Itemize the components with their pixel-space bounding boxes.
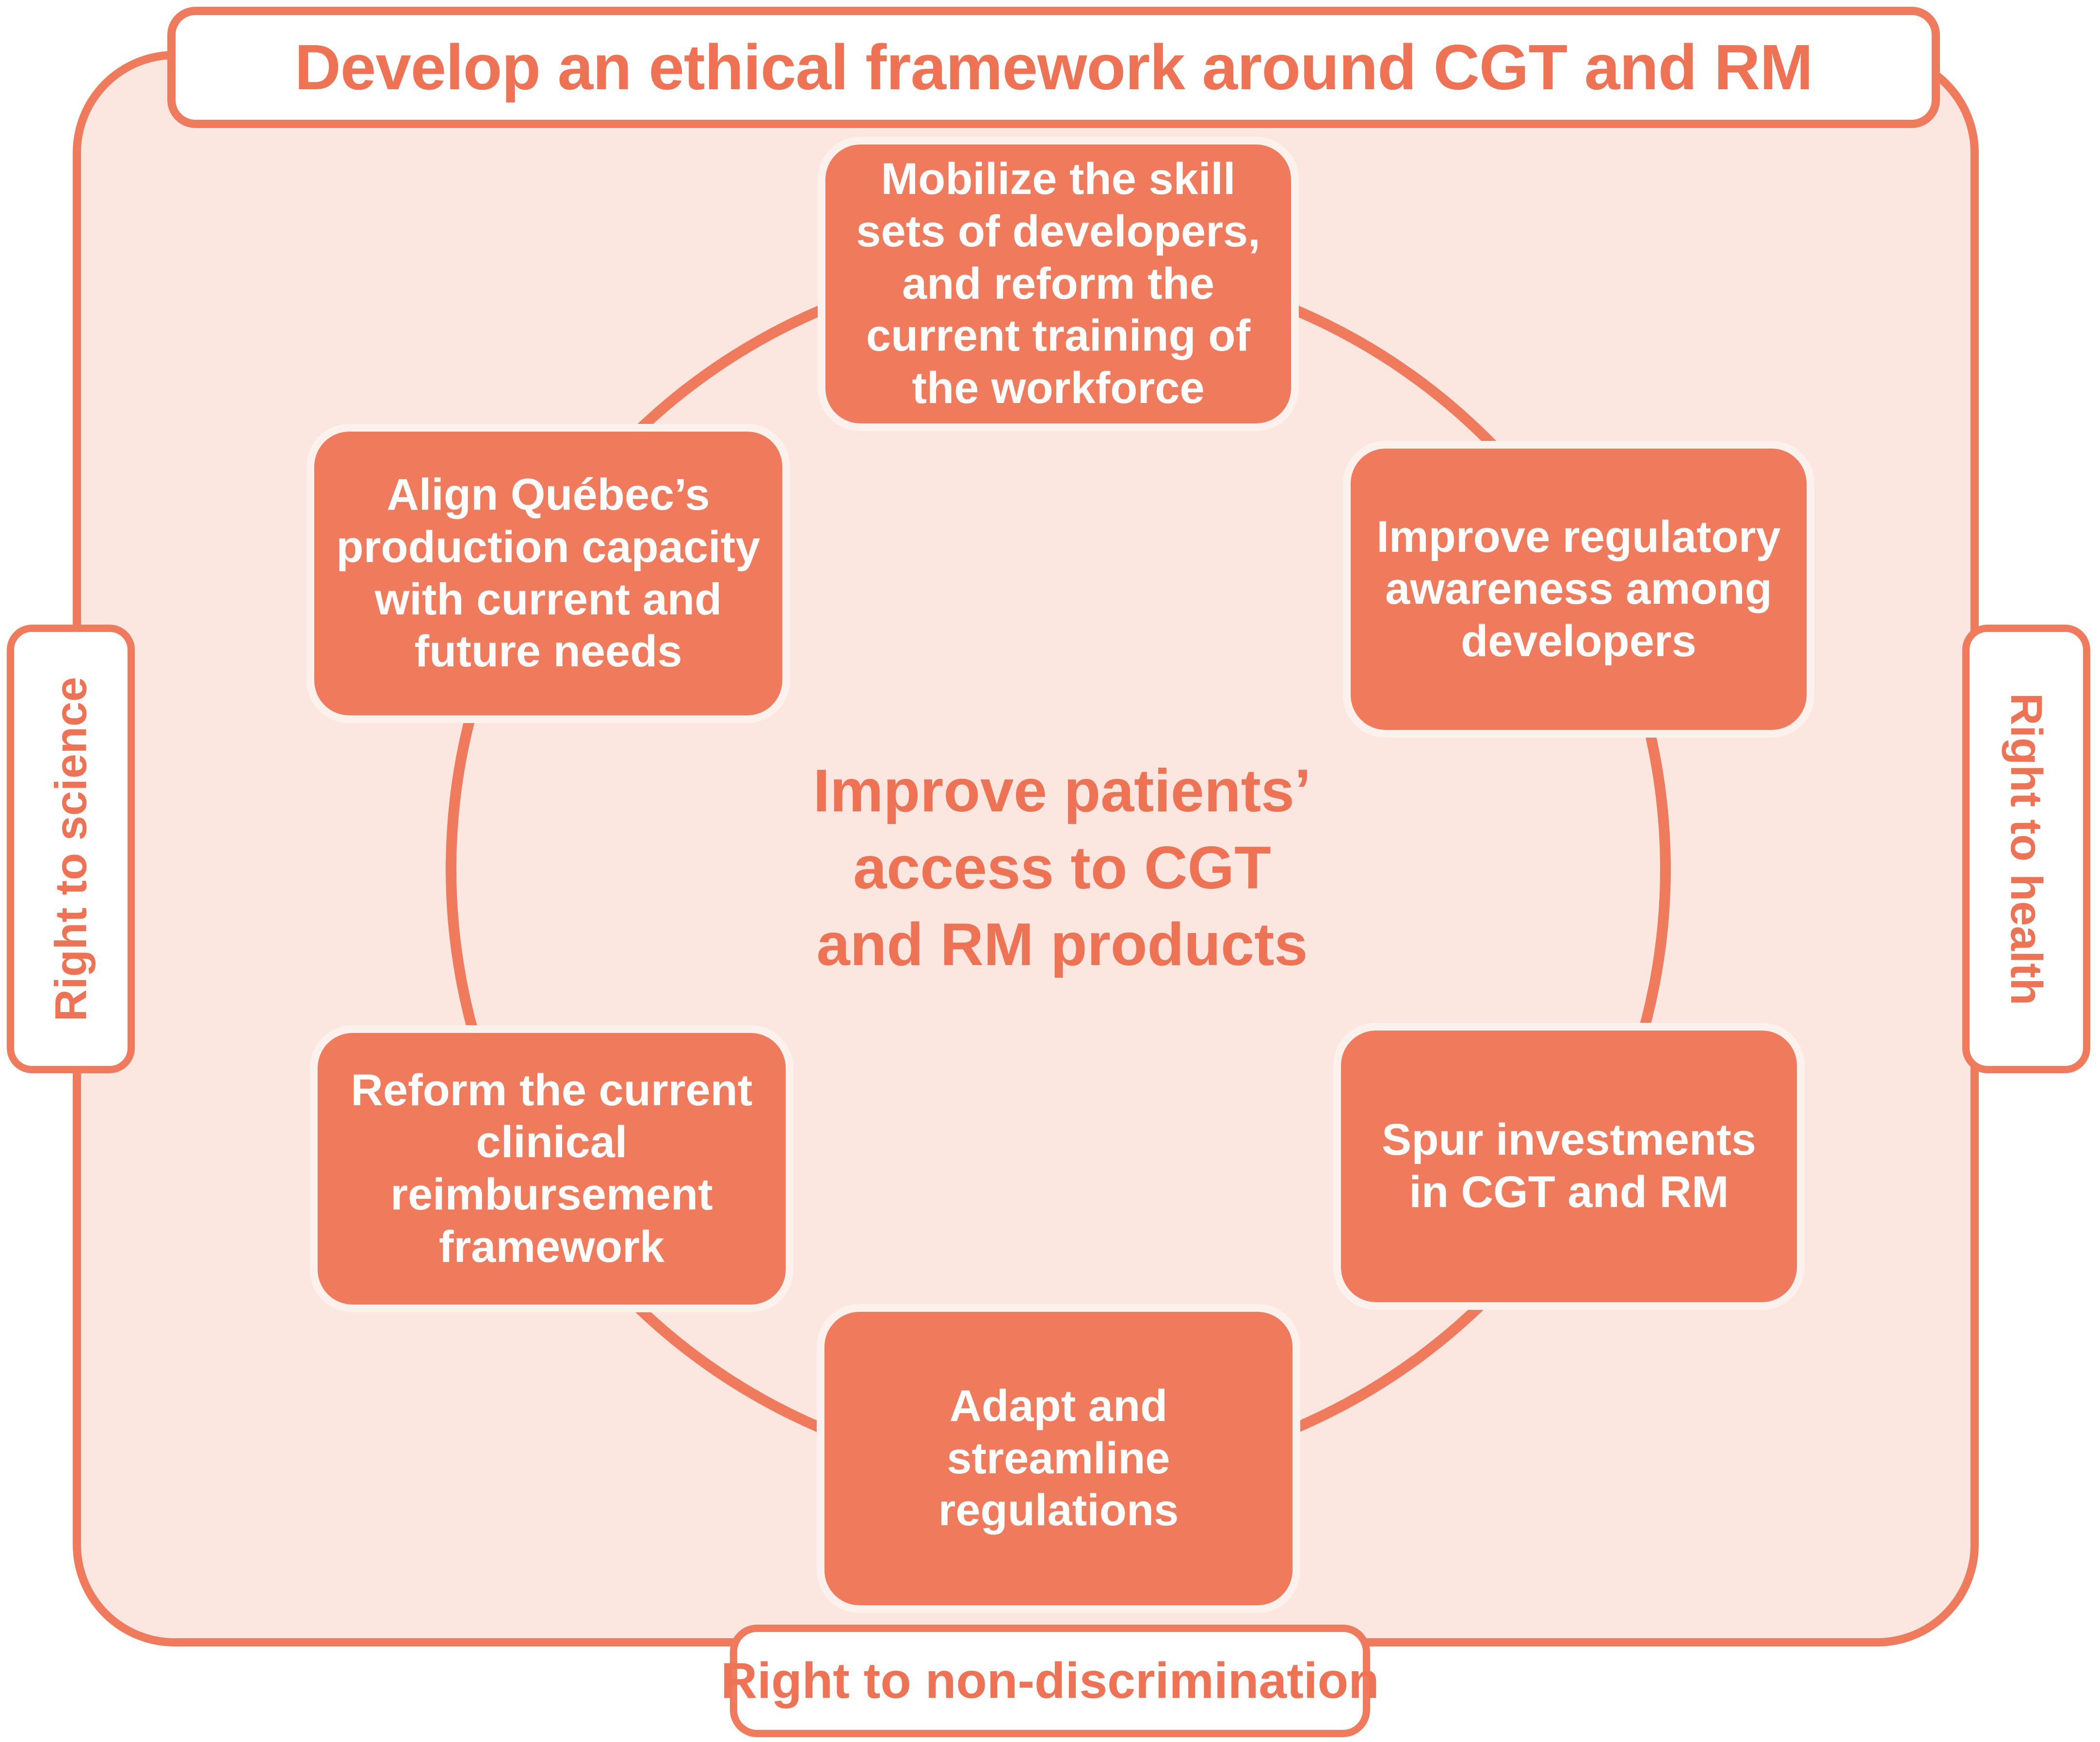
central-goal-line-1: Improve patients’ xyxy=(813,753,1311,830)
right-to-non-discrimination-chip: Right to non-discrimination xyxy=(730,1625,1370,1737)
central-goal: Improve patients’ access to CGT and RM p… xyxy=(723,727,1402,1009)
right-to-health-chip: Right to health xyxy=(1962,625,2090,1073)
node-label: Improve regulatory awareness among devel… xyxy=(1367,511,1790,668)
right-to-science-label: Right to science xyxy=(48,677,93,1021)
node-label: Spur investments in CGT and RM xyxy=(1357,1114,1780,1218)
right-to-science-chip: Right to science xyxy=(7,625,135,1073)
node-mobilize-skill-sets[interactable]: Mobilize the skill sets of developers, a… xyxy=(825,145,1291,423)
node-label: Reform the current clinical reimbursemen… xyxy=(334,1065,769,1274)
right-to-health-label: Right to health xyxy=(2004,693,2049,1005)
node-adapt-streamline-regulations[interactable]: Adapt and streamline regulations xyxy=(824,1312,1292,1605)
node-spur-investments[interactable]: Spur investments in CGT and RM xyxy=(1341,1031,1797,1302)
node-label: Adapt and streamline regulations xyxy=(841,1380,1276,1537)
page-title: Develop an ethical framework around CGT … xyxy=(295,35,1813,99)
diagram-title-chip: Develop an ethical framework around CGT … xyxy=(167,7,1940,128)
central-goal-line-2: access to CGT xyxy=(853,830,1271,907)
diagram-canvas: Improve patients’ access to CGT and RM p… xyxy=(0,0,2100,1742)
node-label: Mobilize the skill sets of developers, a… xyxy=(842,153,1275,414)
node-label: Align Québec’s production capacity with … xyxy=(331,469,766,678)
node-improve-regulatory-awareness[interactable]: Improve regulatory awareness among devel… xyxy=(1351,449,1807,730)
node-reform-reimbursement[interactable]: Reform the current clinical reimbursemen… xyxy=(318,1033,786,1305)
node-align-production-capacity[interactable]: Align Québec’s production capacity with … xyxy=(314,432,782,715)
right-to-non-discrimination-label: Right to non-discrimination xyxy=(721,1656,1379,1706)
central-goal-line-3: and RM products xyxy=(817,906,1308,984)
